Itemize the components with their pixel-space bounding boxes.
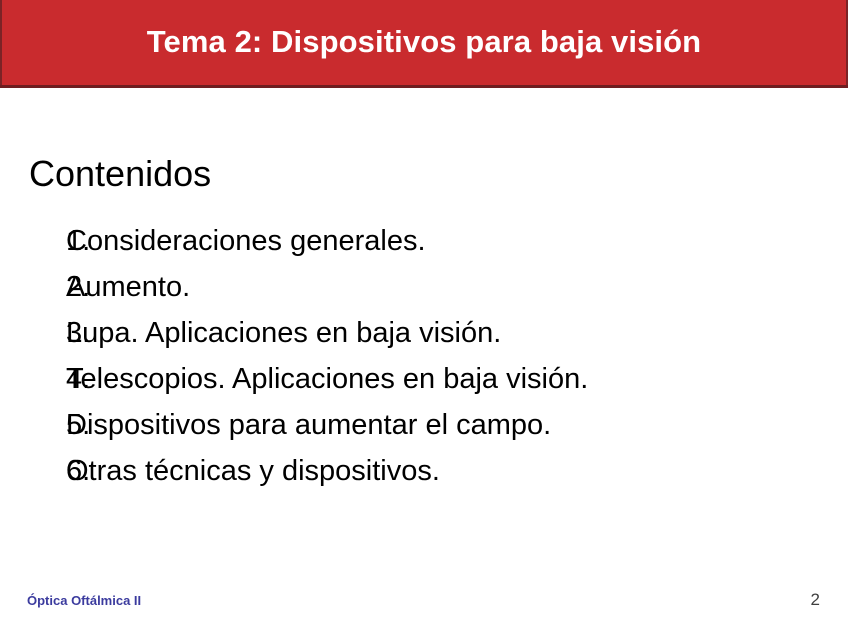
- list-item-number: 6.: [0, 448, 66, 494]
- list-item: 6. Otras técnicas y dispositivos.: [0, 448, 588, 494]
- list-item-label: Dispositivos para aumentar el campo.: [66, 402, 551, 448]
- list-item: 5. Dispositivos para aumentar el campo.: [0, 402, 588, 448]
- slide: Tema 2: Dispositivos para baja visión Co…: [0, 0, 848, 636]
- list-item-label: Lupa. Aplicaciones en baja visión.: [66, 310, 501, 356]
- list-item-label: Consideraciones generales.: [66, 218, 426, 264]
- footer-course-name: Óptica Oftálmica II: [27, 594, 141, 607]
- list-item-number: 3.: [0, 310, 66, 356]
- content-heading: Contenidos: [29, 156, 211, 192]
- list-item: 1. Consideraciones generales.: [0, 218, 588, 264]
- contents-list: 1. Consideraciones generales. 2. Aumento…: [0, 218, 588, 494]
- title-banner: Tema 2: Dispositivos para baja visión: [0, 0, 848, 88]
- slide-footer: Óptica Oftálmica II 2: [0, 584, 848, 636]
- list-item-label: Aumento.: [66, 264, 190, 310]
- list-item-number: 4.: [0, 356, 66, 402]
- list-item-label: Telescopios. Aplicaciones en baja visión…: [66, 356, 588, 402]
- list-item: 4. Telescopios. Aplicaciones en baja vis…: [0, 356, 588, 402]
- list-item: 2. Aumento.: [0, 264, 588, 310]
- list-item-number: 5.: [0, 402, 66, 448]
- list-item-number: 1.: [0, 218, 66, 264]
- list-item-label: Otras técnicas y dispositivos.: [66, 448, 440, 494]
- list-item-number: 2.: [0, 264, 66, 310]
- list-item: 3. Lupa. Aplicaciones en baja visión.: [0, 310, 588, 356]
- footer-page-number: 2: [811, 591, 820, 608]
- slide-title: Tema 2: Dispositivos para baja visión: [147, 26, 701, 60]
